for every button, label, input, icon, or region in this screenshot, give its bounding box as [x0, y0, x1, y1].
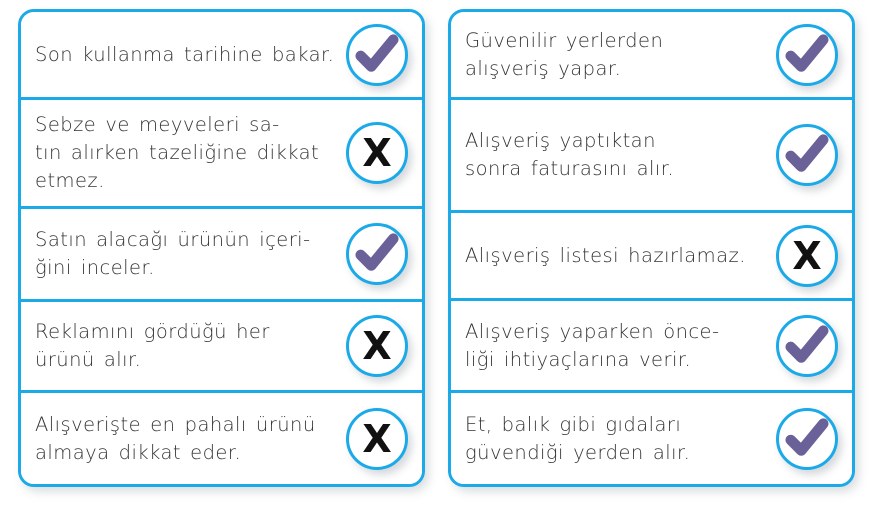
- worksheet-container: Son kullanma tarihine bakar. Sebze ve me…: [0, 0, 869, 505]
- checkmark-icon: [354, 32, 400, 78]
- cross-icon: X: [362, 134, 391, 172]
- cross-icon: X: [362, 327, 391, 365]
- mark-badge[interactable]: [776, 24, 838, 86]
- mark-badge[interactable]: [776, 408, 838, 470]
- statement-row[interactable]: Alışveriş listesi hazırlamaz. X: [451, 213, 852, 301]
- statement-row[interactable]: Sebze ve meyveleri sa- tın alırken tazel…: [21, 100, 422, 209]
- statement-text: Güvenilir yerlerden alışveriş yapar.: [465, 27, 776, 82]
- mark-badge[interactable]: X: [346, 408, 408, 470]
- mark-badge[interactable]: X: [346, 315, 408, 377]
- cross-icon: X: [362, 420, 391, 458]
- checkmark-icon: [784, 132, 830, 178]
- statement-row[interactable]: Güvenilir yerlerden alışveriş yapar.: [451, 12, 852, 100]
- statement-text: Sebze ve meyveleri sa- tın alırken tazel…: [35, 111, 346, 194]
- checkmark-icon: [784, 32, 830, 78]
- statement-row[interactable]: Alışveriş yaptıktan sonra faturasını alı…: [451, 100, 852, 213]
- statement-text: Son kullanma tarihine bakar.: [35, 41, 346, 69]
- left-column: Son kullanma tarihine bakar. Sebze ve me…: [18, 9, 425, 487]
- statement-text: Alışveriş listesi hazırlamaz.: [465, 242, 776, 270]
- statement-text: Satın alacağı ürünün içeri- ğini inceler…: [35, 226, 346, 281]
- statement-text: Alışveriş yaptıktan sonra faturasını alı…: [465, 127, 776, 182]
- statement-row[interactable]: Alışverişte en pahalı ürünü almaya dikka…: [21, 393, 422, 484]
- checkmark-icon: [784, 323, 830, 369]
- mark-badge[interactable]: X: [776, 225, 838, 287]
- statement-text: Reklamını gördüğü her ürünü alır.: [35, 318, 346, 373]
- checkmark-icon: [784, 416, 830, 462]
- mark-badge[interactable]: X: [346, 122, 408, 184]
- checkmark-icon: [354, 231, 400, 277]
- statement-text: Et, balık gibi gıdaları güvendiği yerden…: [465, 411, 776, 466]
- statement-row[interactable]: Satın alacağı ürünün içeri- ğini inceler…: [21, 209, 422, 302]
- statement-row[interactable]: Et, balık gibi gıdaları güvendiği yerden…: [451, 393, 852, 484]
- statement-row[interactable]: Son kullanma tarihine bakar.: [21, 12, 422, 100]
- mark-badge[interactable]: [346, 223, 408, 285]
- mark-badge[interactable]: [346, 24, 408, 86]
- statement-row[interactable]: Alışveriş yaparken önce- liği ihtiyaçlar…: [451, 301, 852, 393]
- mark-badge[interactable]: [776, 315, 838, 377]
- statement-text: Alışverişte en pahalı ürünü almaya dikka…: [35, 411, 346, 466]
- statement-text: Alışveriş yaparken önce- liği ihtiyaçlar…: [465, 318, 776, 373]
- mark-badge[interactable]: [776, 124, 838, 186]
- statement-row[interactable]: Reklamını gördüğü her ürünü alır. X: [21, 302, 422, 393]
- right-column: Güvenilir yerlerden alışveriş yapar. Alı…: [448, 9, 855, 487]
- cross-icon: X: [792, 237, 821, 275]
